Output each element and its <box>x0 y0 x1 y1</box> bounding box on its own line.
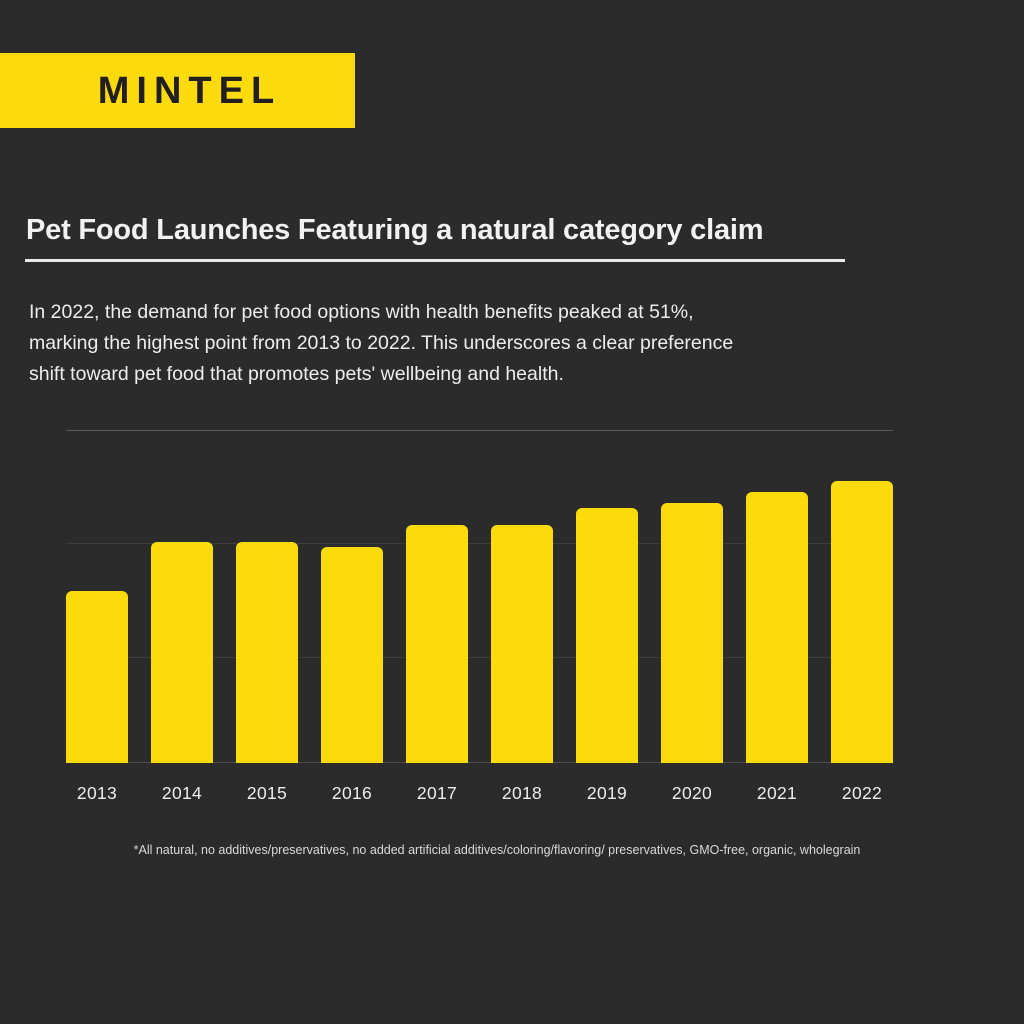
bar-slot <box>491 431 553 763</box>
x-tick-2018: 2018 <box>491 783 553 804</box>
x-tick-2016: 2016 <box>321 783 383 804</box>
bar-slot <box>151 431 213 763</box>
x-tick-2017: 2017 <box>406 783 468 804</box>
bar-slot <box>661 431 723 763</box>
bar-slot <box>746 431 808 763</box>
x-axis-labels: 2013201420152016201720182019202020212022 <box>66 783 893 804</box>
x-tick-2014: 2014 <box>151 783 213 804</box>
summary-line-1: In 2022, the demand for pet food options… <box>29 297 889 328</box>
bar-slot <box>406 431 468 763</box>
bar-slot <box>66 431 128 763</box>
x-tick-2019: 2019 <box>576 783 638 804</box>
x-tick-2020: 2020 <box>661 783 723 804</box>
infographic-page: MINTEL Pet Food Launches Featuring a nat… <box>0 0 1024 1024</box>
bar-2015 <box>236 542 298 763</box>
title-underline-rule <box>25 259 845 262</box>
summary-paragraph: In 2022, the demand for pet food options… <box>29 297 889 390</box>
footnote: *All natural, no additives/preservatives… <box>97 840 897 860</box>
bar-chart <box>66 431 893 763</box>
bar-2020 <box>661 503 723 763</box>
x-tick-2021: 2021 <box>746 783 808 804</box>
summary-line-3: shift toward pet food that promotes pets… <box>29 359 889 390</box>
bar-slot <box>576 431 638 763</box>
x-tick-2022: 2022 <box>831 783 893 804</box>
page-title: Pet Food Launches Featuring a natural ca… <box>26 212 926 248</box>
x-tick-2015: 2015 <box>236 783 298 804</box>
bar-series <box>66 431 893 763</box>
summary-line-2: marking the highest point from 2013 to 2… <box>29 328 889 359</box>
bar-2013 <box>66 591 128 763</box>
bar-slot <box>321 431 383 763</box>
mintel-logo-banner: MINTEL <box>0 53 355 128</box>
bar-2019 <box>576 508 638 763</box>
bar-2021 <box>746 492 808 763</box>
x-tick-2013: 2013 <box>66 783 128 804</box>
bar-2016 <box>321 547 383 763</box>
bar-slot <box>236 431 298 763</box>
bar-2014 <box>151 542 213 763</box>
bar-2018 <box>491 525 553 763</box>
bar-slot <box>831 431 893 763</box>
bar-2017 <box>406 525 468 763</box>
bar-2022 <box>831 481 893 763</box>
brand-wordmark: MINTEL <box>98 72 281 110</box>
